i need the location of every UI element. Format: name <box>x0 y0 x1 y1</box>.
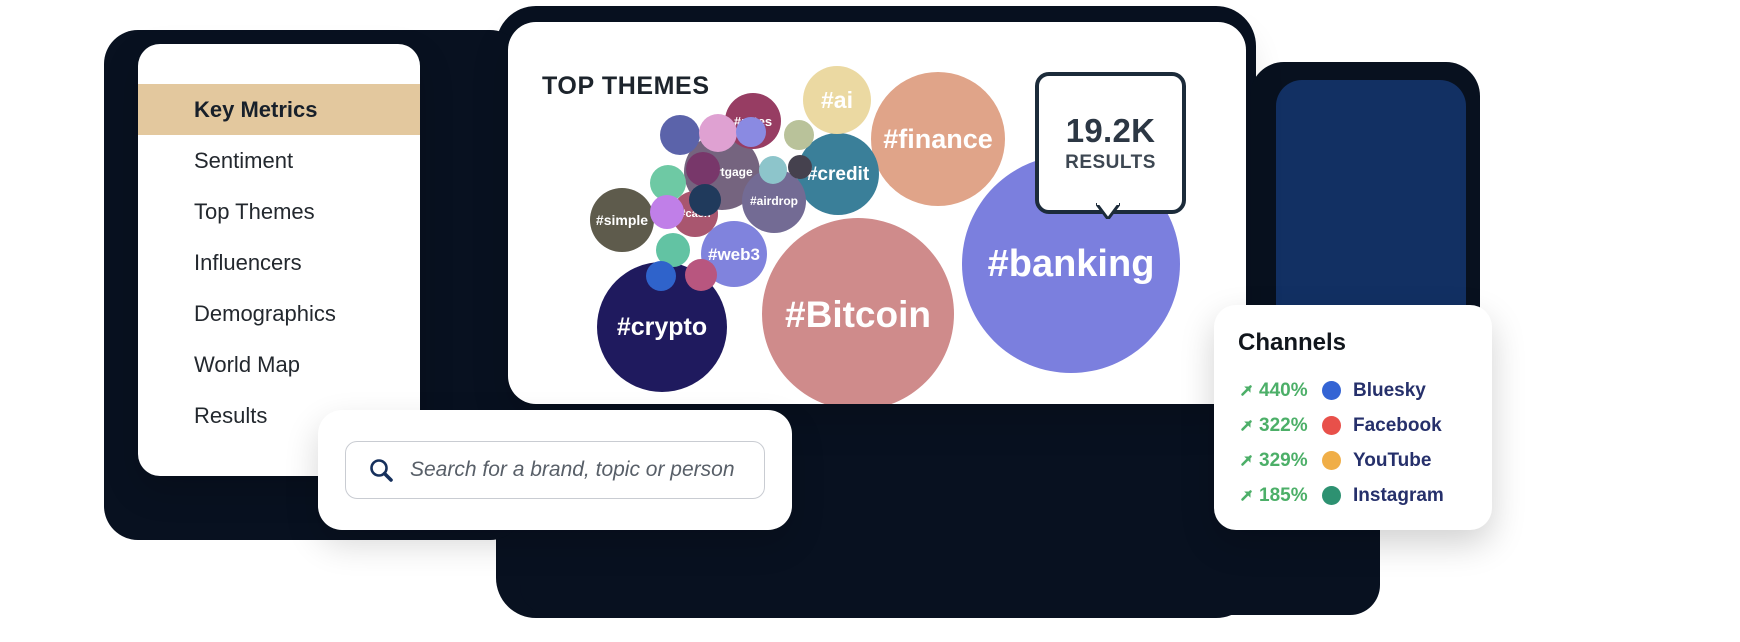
sidebar-item-label: Sentiment <box>194 148 293 174</box>
search-card: Search for a brand, topic or person <box>318 410 792 530</box>
bubble-decorative <box>784 120 814 150</box>
bubble-decorative <box>699 114 737 152</box>
bubble-label: #airdrop <box>750 195 798 207</box>
bubble-decorative <box>788 155 812 179</box>
bubble-decorative <box>686 152 720 186</box>
sidebar-item-key-metrics[interactable]: Key Metrics <box>138 84 420 135</box>
channels-list: 440%Bluesky322%Facebook329%YouTube185%In… <box>1238 373 1492 513</box>
search-input[interactable]: Search for a brand, topic or person <box>345 441 765 499</box>
channels-title: Channels <box>1238 329 1492 357</box>
bubble-simple[interactable]: #simple <box>590 188 654 252</box>
sidebar-item-world-map[interactable]: World Map <box>138 339 420 390</box>
results-label: RESULTS <box>1065 152 1156 174</box>
bubble-ai[interactable]: #ai <box>803 66 871 134</box>
channel-row-youtube[interactable]: 329%YouTube <box>1238 443 1492 478</box>
channel-change-value: 329% <box>1259 450 1308 472</box>
sidebar-item-label: Key Metrics <box>194 97 318 123</box>
bubble-label: #ai <box>821 89 853 112</box>
channels-card: Channels 440%Bluesky322%Facebook329%YouT… <box>1214 305 1492 530</box>
bubble-label: #web3 <box>708 246 760 263</box>
channel-change: 185% <box>1238 485 1322 507</box>
channel-name: Facebook <box>1353 415 1442 437</box>
sidebar-item-label: Top Themes <box>194 199 315 225</box>
bubble-decorative <box>685 259 717 291</box>
bubble-label: #credit <box>807 165 869 184</box>
bubble-label: #Bitcoin <box>785 296 931 333</box>
sidebar-item-label: Influencers <box>194 250 302 276</box>
results-value: 19.2K <box>1066 112 1156 150</box>
sidebar-item-label: Demographics <box>194 301 336 327</box>
sidebar-nav-list: Key MetricsSentimentTop ThemesInfluencer… <box>138 84 420 441</box>
trend-up-arrow-icon <box>1238 452 1255 469</box>
bubble-finance[interactable]: #finance <box>871 72 1005 206</box>
trend-up-arrow-icon <box>1238 487 1255 504</box>
channel-change: 440% <box>1238 380 1322 402</box>
channel-row-instagram[interactable]: 185%Instagram <box>1238 478 1492 513</box>
bubble-decorative <box>736 117 766 147</box>
bubble-decorative <box>759 156 787 184</box>
channel-row-bluesky[interactable]: 440%Bluesky <box>1238 373 1492 408</box>
channel-color-dot <box>1322 416 1341 435</box>
bubble-decorative <box>650 195 684 229</box>
bubble-decorative <box>689 184 721 216</box>
bubble-decorative <box>646 261 676 291</box>
channel-color-dot <box>1322 486 1341 505</box>
bubble-label: #finance <box>883 126 993 153</box>
trend-up-arrow-icon <box>1238 417 1255 434</box>
channel-change-value: 185% <box>1259 485 1308 507</box>
search-placeholder-text: Search for a brand, topic or person <box>410 458 735 482</box>
sidebar-top-spacer <box>138 44 420 84</box>
sidebar-item-sentiment[interactable]: Sentiment <box>138 135 420 186</box>
channel-name: YouTube <box>1353 450 1431 472</box>
sidebar-item-influencers[interactable]: Influencers <box>138 237 420 288</box>
channel-change: 322% <box>1238 415 1322 437</box>
sidebar-item-demographics[interactable]: Demographics <box>138 288 420 339</box>
bubble-label: #crypto <box>617 315 707 340</box>
sidebar-item-top-themes[interactable]: Top Themes <box>138 186 420 237</box>
bubble-label: #simple <box>596 213 648 227</box>
callout-tail-icon <box>1096 203 1120 219</box>
bubble-Bitcoin[interactable]: #Bitcoin <box>762 218 954 404</box>
bubble-decorative <box>660 115 700 155</box>
search-icon <box>368 457 394 483</box>
channel-row-facebook[interactable]: 322%Facebook <box>1238 408 1492 443</box>
channel-change: 329% <box>1238 450 1322 472</box>
sidebar-item-label: World Map <box>194 352 300 378</box>
channel-color-dot <box>1322 381 1341 400</box>
trend-up-arrow-icon <box>1238 382 1255 399</box>
channel-color-dot <box>1322 451 1341 470</box>
results-callout: 19.2K RESULTS <box>1035 72 1186 214</box>
channel-change-value: 322% <box>1259 415 1308 437</box>
channel-change-value: 440% <box>1259 380 1308 402</box>
channel-name: Instagram <box>1353 485 1444 507</box>
bubble-label: #banking <box>988 245 1155 283</box>
channel-name: Bluesky <box>1353 380 1426 402</box>
dashboard-stage: Key MetricsSentimentTop ThemesInfluencer… <box>0 0 1740 642</box>
sidebar-item-label: Results <box>194 403 267 429</box>
